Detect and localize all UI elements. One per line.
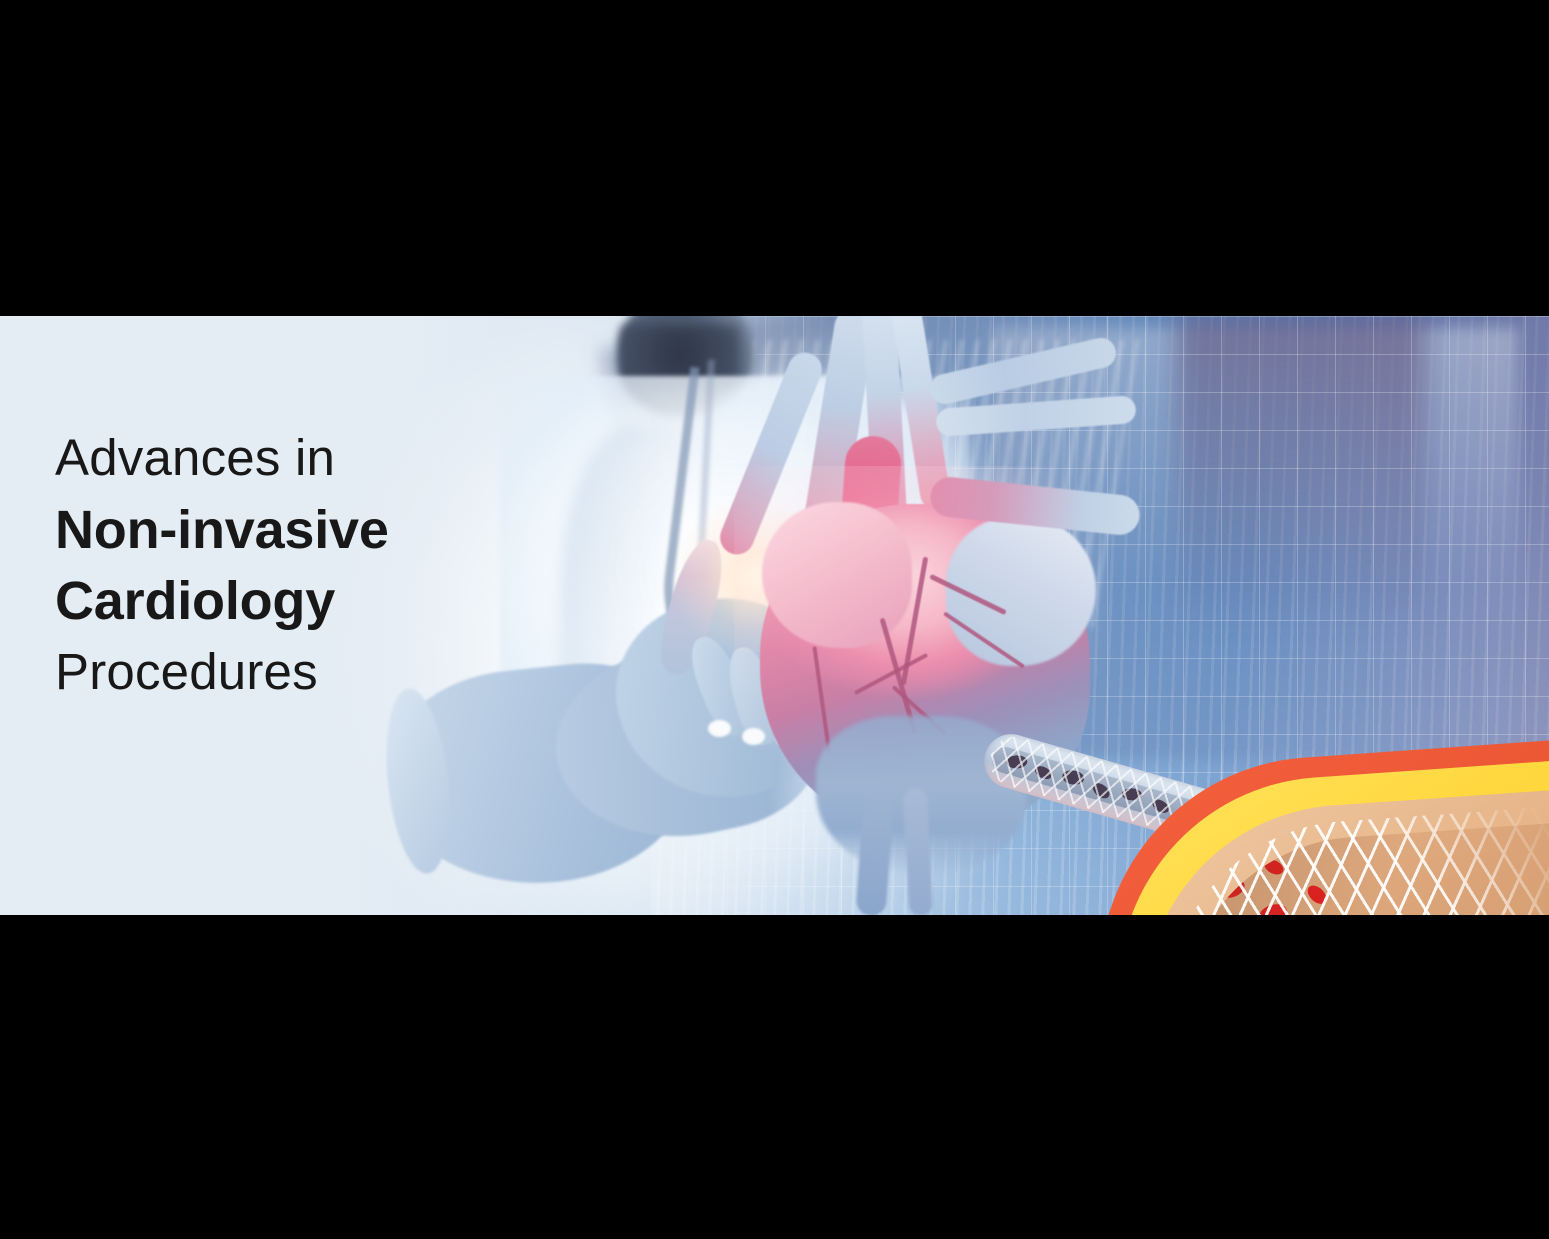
title-line-4: Procedures xyxy=(55,646,525,697)
pulmonary-branch-upper xyxy=(927,335,1119,407)
title-line-3: Cardiology xyxy=(55,574,525,628)
title-line-2: Non-invasive xyxy=(55,503,525,557)
stented-artery-illustration xyxy=(980,716,1549,915)
page-canvas: Advances in Non-invasive Cardiology Proc… xyxy=(0,0,1549,1239)
cardiology-hero-banner: Advances in Non-invasive Cardiology Proc… xyxy=(0,316,1549,915)
title-line-1: Advances in xyxy=(55,432,525,483)
page-title: Advances in Non-invasive Cardiology Proc… xyxy=(55,432,525,697)
pulmonary-branch-mid xyxy=(935,395,1136,437)
left-atrium xyxy=(762,502,912,648)
